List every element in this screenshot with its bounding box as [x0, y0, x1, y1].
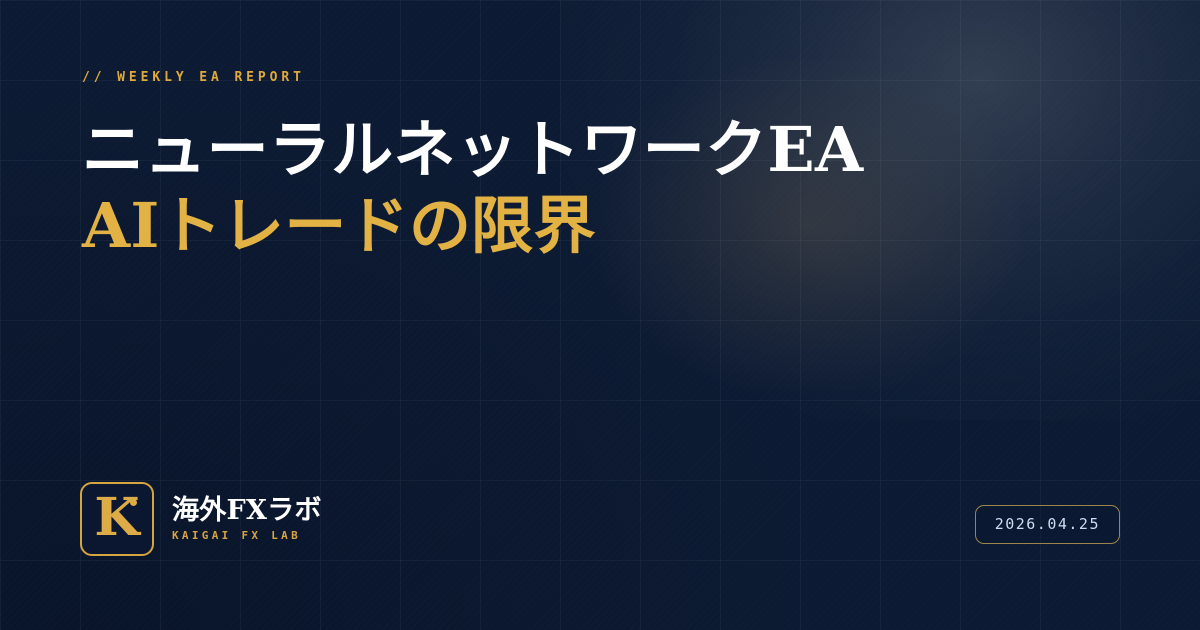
- brand-romaji-subtitle: KAIGAI FX LAB: [172, 529, 322, 542]
- eyebrow-label: // WEEKLY EA REPORT: [82, 70, 305, 85]
- brand-lockup: K 海外FXラボ KAIGAI FX LAB: [80, 482, 322, 556]
- accent-dot-icon: [130, 499, 137, 506]
- k-monogram-icon: K: [80, 482, 154, 556]
- publish-date-badge: 2026.04.25: [975, 505, 1120, 544]
- brand-text-block: 海外FXラボ KAIGAI FX LAB: [172, 496, 322, 542]
- og-image-canvas: // WEEKLY EA REPORT ニューラルネットワークEA AIトレード…: [0, 0, 1200, 630]
- headline-block: ニューラルネットワークEA AIトレードの限界: [82, 112, 863, 264]
- headline-line-1: ニューラルネットワークEA: [82, 112, 863, 188]
- brand-name: 海外FXラボ: [172, 496, 322, 526]
- headline-line-2: AIトレードの限界: [82, 188, 863, 264]
- content-layer: // WEEKLY EA REPORT ニューラルネットワークEA AIトレード…: [0, 0, 1200, 630]
